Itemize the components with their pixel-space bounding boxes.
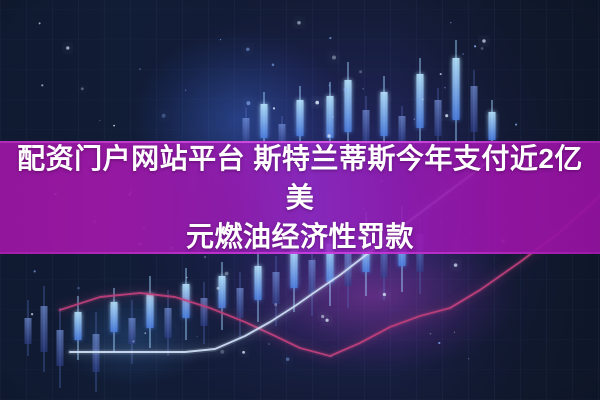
news-banner: 配资门户网站平台 斯特兰蒂斯今年支付近2亿美 元燃油经济性罚款 [0,0,600,400]
headline-container: 配资门户网站平台 斯特兰蒂斯今年支付近2亿美 元燃油经济性罚款 [0,141,600,254]
headline-text: 配资门户网站平台 斯特兰蒂斯今年支付近2亿美 元燃油经济性罚款 [14,139,586,256]
